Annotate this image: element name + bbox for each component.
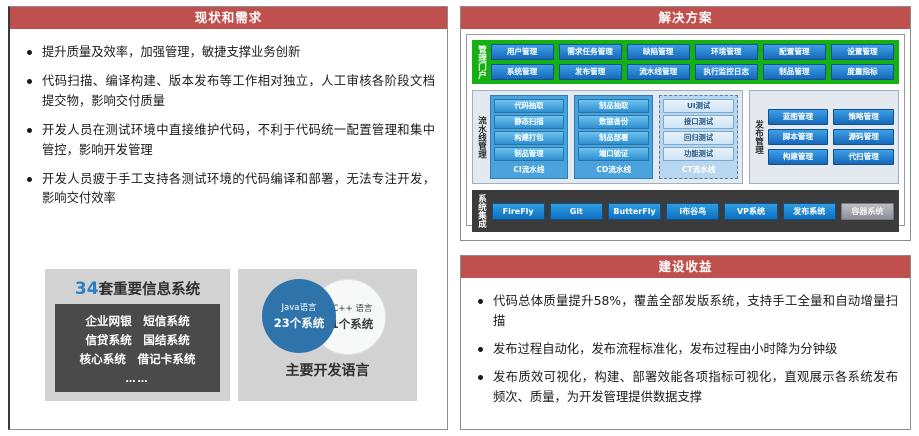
panel-benefits: 建设收益 代码总体质量提升58%，覆盖全部发版系统，支持手工全量和自动增量扫描 … <box>460 255 911 430</box>
pipeline-stage[interactable]: 接口测试 <box>663 115 734 129</box>
pipeline-columns: 代码抽取 静态扫描 构建打包 制品管理 CI流水线 制品抽取 数据备份 制品部署… <box>490 95 739 179</box>
development-language-caption: 主要开发语言 <box>238 360 417 380</box>
development-language-card: Java语言 23个系统 C/C++ 语言 11个系统 主要开发语言 <box>238 269 417 401</box>
release-button[interactable]: 构建管理 <box>768 149 829 165</box>
portal-button[interactable]: 系统管理 <box>491 64 554 80</box>
pipeline-column-ci: 代码抽取 静态扫描 构建打包 制品管理 CI流水线 <box>490 95 569 179</box>
list-item: 代码总体质量提升58%，覆盖全部发版系统，支持手工全量和自动增量扫描 <box>475 292 898 332</box>
important-systems-count: 34 <box>75 279 99 299</box>
release-button[interactable]: 代扫管理 <box>833 149 894 165</box>
portal-button[interactable]: 需求任务管理 <box>559 44 622 60</box>
integration-button-release[interactable]: 发布系统 <box>783 203 836 220</box>
list-item: 发布质效可视化，构建、部署效能各项指标可视化，直观展示各系统发布频次、质量，为开… <box>475 368 898 408</box>
current-situation-bullet-list: 提升质量及效率，加强管理，敏捷支撑业务创新 代码扫描、编译构建、版本发布等工作相… <box>18 35 439 209</box>
portal-button[interactable]: 流水线管理 <box>627 64 690 80</box>
venn-diagram: Java语言 23个系统 C/C++ 语言 11个系统 <box>238 274 417 360</box>
important-systems-list: 企业网银 短信系统 信贷系统 国结系统 核心系统 借记卡系统 …… <box>55 304 220 392</box>
panel-benefits-title: 建设收益 <box>461 256 910 278</box>
architecture-diagram: 管理门户 用户管理 需求任务管理 缺陷管理 环境管理 配置管理 设置管理 系统管… <box>466 34 905 226</box>
portal-button[interactable]: 缺陷管理 <box>627 44 690 60</box>
pipeline-stage[interactable]: 静态扫描 <box>494 115 565 129</box>
list-item: 开发人员在测试环境中直接维护代码，不利于代码统一配置管理和集中管控，影响开发管理 <box>24 121 435 161</box>
portal-button[interactable]: 制品管理 <box>763 64 826 80</box>
integration-button-vp[interactable]: VP系统 <box>724 203 777 220</box>
list-item: 代码扫描、编译构建、版本发布等工作相对独立，人工审核各阶段文档提交物，影响交付质… <box>24 72 435 112</box>
statistics-strip: 34套重要信息系统 企业网银 短信系统 信贷系统 国结系统 核心系统 借记卡系统… <box>45 269 417 401</box>
pipeline-stage[interactable]: 制品部署 <box>578 131 649 145</box>
venn-java-value: 23个系统 <box>274 315 325 331</box>
portal-button[interactable]: 配置管理 <box>763 44 826 60</box>
pipeline-stage[interactable]: UI测试 <box>663 99 734 113</box>
list-item: 开发人员疲于手工支持各测试环境的代码编译和部署，无法专注开发，影响交付效率 <box>24 170 435 210</box>
integration-button-container[interactable]: 容器系统 <box>841 203 894 220</box>
pipeline-stage[interactable]: 数据备份 <box>578 115 649 129</box>
integration-button-cuckoo[interactable]: i布谷鸟 <box>666 203 719 220</box>
portal-button[interactable]: 设置管理 <box>831 44 894 60</box>
ellipsis-text: …… <box>55 374 220 385</box>
list-item: 企业网银 短信系统 <box>55 313 220 329</box>
pipeline-stage[interactable]: 功能测试 <box>663 147 734 161</box>
pipeline-management-box: 流水线管理 代码抽取 静态扫描 构建打包 制品管理 CI流水线 制品抽取 数据备… <box>472 90 743 184</box>
pipeline-column-ct: UI测试 接口测试 回归测试 功能测试 CT流水线 <box>659 95 738 179</box>
management-portal-row: 管理门户 用户管理 需求任务管理 缺陷管理 环境管理 配置管理 设置管理 系统管… <box>472 40 899 84</box>
pipeline-column-name: CT流水线 <box>663 164 734 175</box>
portal-button[interactable]: 环境管理 <box>695 44 758 60</box>
list-item: 发布过程自动化，发布流程标准化，发布过程由小时降为分钟级 <box>475 340 898 360</box>
pipeline-column-name: CD流水线 <box>578 164 649 175</box>
pipeline-column-name: CI流水线 <box>494 164 565 175</box>
panel-benefits-body: 代码总体质量提升58%，覆盖全部发版系统，支持手工全量和自动增量扫描 发布过程自… <box>461 278 910 420</box>
benefits-bullet-list: 代码总体质量提升58%，覆盖全部发版系统，支持手工全量和自动增量扫描 发布过程自… <box>469 284 902 408</box>
management-portal-buttons: 用户管理 需求任务管理 缺陷管理 环境管理 配置管理 设置管理 系统管理 发布管… <box>491 44 895 80</box>
release-button[interactable]: 策略管理 <box>833 109 894 125</box>
system-integration-items: FireFly Git ButterFly i布谷鸟 VP系统 发布系统 容器系… <box>492 203 895 220</box>
pipeline-stage[interactable]: 代码抽取 <box>494 99 565 113</box>
pipeline-stage[interactable]: 构建打包 <box>494 131 565 145</box>
system-integration-label: 系统集成 <box>477 194 486 228</box>
portal-button[interactable]: 用户管理 <box>491 44 554 60</box>
integration-button-firefly[interactable]: FireFly <box>492 203 545 220</box>
panel-current-situation-title: 现状和需求 <box>10 7 447 29</box>
release-management-label: 发布管理 <box>754 95 763 179</box>
system-integration-row: 系统集成 FireFly Git ButterFly i布谷鸟 VP系统 发布系… <box>472 190 899 232</box>
pipeline-stage[interactable]: 端口验证 <box>578 147 649 161</box>
list-item: 核心系统 借记卡系统 <box>55 351 220 367</box>
important-systems-title-rest: 套重要信息系统 <box>99 282 201 298</box>
panel-solution: 解决方案 管理门户 用户管理 需求任务管理 缺陷管理 环境管理 配置管理 设置管… <box>460 6 911 241</box>
slide-root: 现状和需求 提升质量及效率，加强管理，敏捷支撑业务创新 代码扫描、编译构建、版本… <box>0 0 919 436</box>
release-management-box: 发布管理 蓝图管理 策略管理 脚本管理 源码管理 构建管理 代扫管理 <box>749 90 899 184</box>
pipeline-stage[interactable]: 制品管理 <box>494 147 565 161</box>
portal-button[interactable]: 发布管理 <box>559 64 622 80</box>
pipeline-management-label: 流水线管理 <box>477 95 486 179</box>
venn-circle-java: Java语言 23个系统 <box>262 279 336 353</box>
release-management-buttons: 蓝图管理 策略管理 脚本管理 源码管理 构建管理 代扫管理 <box>768 95 895 179</box>
release-button[interactable]: 源码管理 <box>833 129 894 145</box>
integration-button-git[interactable]: Git <box>550 203 603 220</box>
architecture-middle-row: 流水线管理 代码抽取 静态扫描 构建打包 制品管理 CI流水线 制品抽取 数据备… <box>472 90 899 184</box>
panel-current-situation: 现状和需求 提升质量及效率，加强管理，敏捷支撑业务创新 代码扫描、编译构建、版本… <box>8 6 448 430</box>
release-button[interactable]: 脚本管理 <box>768 129 829 145</box>
important-systems-title: 34套重要信息系统 <box>45 269 230 299</box>
integration-button-butterfly[interactable]: ButterFly <box>608 203 661 220</box>
pipeline-stage[interactable]: 回归测试 <box>663 131 734 145</box>
list-item: 信贷系统 国结系统 <box>55 332 220 348</box>
important-systems-card: 34套重要信息系统 企业网银 短信系统 信贷系统 国结系统 核心系统 借记卡系统… <box>45 269 230 401</box>
management-portal-label: 管理门户 <box>477 45 486 79</box>
pipeline-stage[interactable]: 制品抽取 <box>578 99 649 113</box>
portal-button[interactable]: 执行监控日志 <box>695 64 758 80</box>
release-button[interactable]: 蓝图管理 <box>768 109 829 125</box>
venn-java-label: Java语言 <box>282 301 317 313</box>
panel-current-situation-body: 提升质量及效率，加强管理，敏捷支撑业务创新 代码扫描、编译构建、版本发布等工作相… <box>10 29 447 222</box>
list-item: 提升质量及效率，加强管理，敏捷支撑业务创新 <box>24 43 435 63</box>
portal-button[interactable]: 度量指标 <box>831 64 894 80</box>
panel-solution-title: 解决方案 <box>461 7 910 29</box>
pipeline-column-cd: 制品抽取 数据备份 制品部署 端口验证 CD流水线 <box>574 95 653 179</box>
